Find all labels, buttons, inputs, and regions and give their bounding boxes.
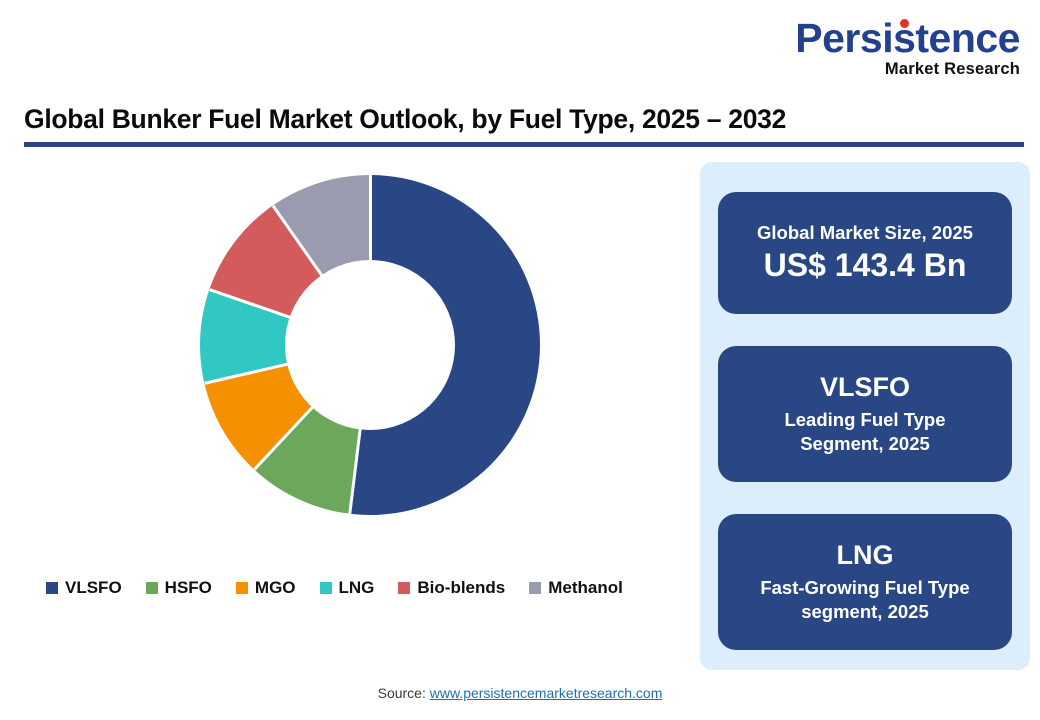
donut-center-hole [285, 260, 455, 430]
fast-growing-segment-name: LNG [837, 540, 894, 571]
legend-swatch-icon [398, 582, 410, 594]
legend-item-label: Methanol [548, 578, 623, 598]
fast-growing-segment-line2: segment, 2025 [801, 600, 929, 624]
legend-item[interactable]: Bio-blends [398, 578, 505, 598]
legend-swatch-icon [320, 582, 332, 594]
market-size-caption: Global Market Size, 2025 [757, 221, 973, 244]
legend-item[interactable]: Methanol [529, 578, 623, 598]
fast-growing-segment-card: LNG Fast-Growing Fuel Type segment, 2025 [718, 514, 1012, 650]
leading-segment-line1: Leading Fuel Type [784, 408, 945, 432]
source-line: Source: www.persistencemarketresearch.co… [0, 685, 1040, 701]
leading-segment-card: VLSFO Leading Fuel Type Segment, 2025 [718, 346, 1012, 482]
title-block: Global Bunker Fuel Market Outlook, by Fu… [24, 104, 1024, 147]
legend-item[interactable]: HSFO [146, 578, 212, 598]
leading-segment-name: VLSFO [820, 372, 910, 403]
legend-item-label: MGO [255, 578, 296, 598]
chart-legend: VLSFOHSFOMGOLNGBio-blendsMethanol [46, 578, 623, 598]
legend-swatch-icon [46, 582, 58, 594]
legend-swatch-icon [236, 582, 248, 594]
market-size-value: US$ 143.4 Bn [764, 246, 967, 284]
legend-item-label: Bio-blends [417, 578, 505, 598]
source-url-link[interactable]: www.persistencemarketresearch.com [430, 685, 663, 701]
fast-growing-segment-line1: Fast-Growing Fuel Type [760, 576, 969, 600]
donut-chart [0, 160, 690, 560]
legend-item[interactable]: LNG [320, 578, 375, 598]
source-prefix-label: Source: [378, 685, 430, 701]
legend-item-label: HSFO [165, 578, 212, 598]
legend-item-label: VLSFO [65, 578, 122, 598]
market-size-card: Global Market Size, 2025 US$ 143.4 Bn [718, 192, 1012, 314]
legend-item-label: LNG [339, 578, 375, 598]
infographic-page: Persistence Market Research Global Bunke… [0, 0, 1040, 720]
highlights-panel: Global Market Size, 2025 US$ 143.4 Bn VL… [700, 162, 1030, 670]
legend-item[interactable]: VLSFO [46, 578, 122, 598]
legend-item[interactable]: MGO [236, 578, 296, 598]
page-title: Global Bunker Fuel Market Outlook, by Fu… [24, 104, 1024, 135]
legend-swatch-icon [146, 582, 158, 594]
legend-swatch-icon [529, 582, 541, 594]
logo-tagline: Market Research [795, 61, 1020, 78]
logo-brand-text: Persistence [795, 18, 1020, 59]
leading-segment-line2: Segment, 2025 [800, 432, 930, 456]
title-underline-rule [24, 142, 1024, 147]
company-logo: Persistence Market Research [795, 18, 1020, 78]
